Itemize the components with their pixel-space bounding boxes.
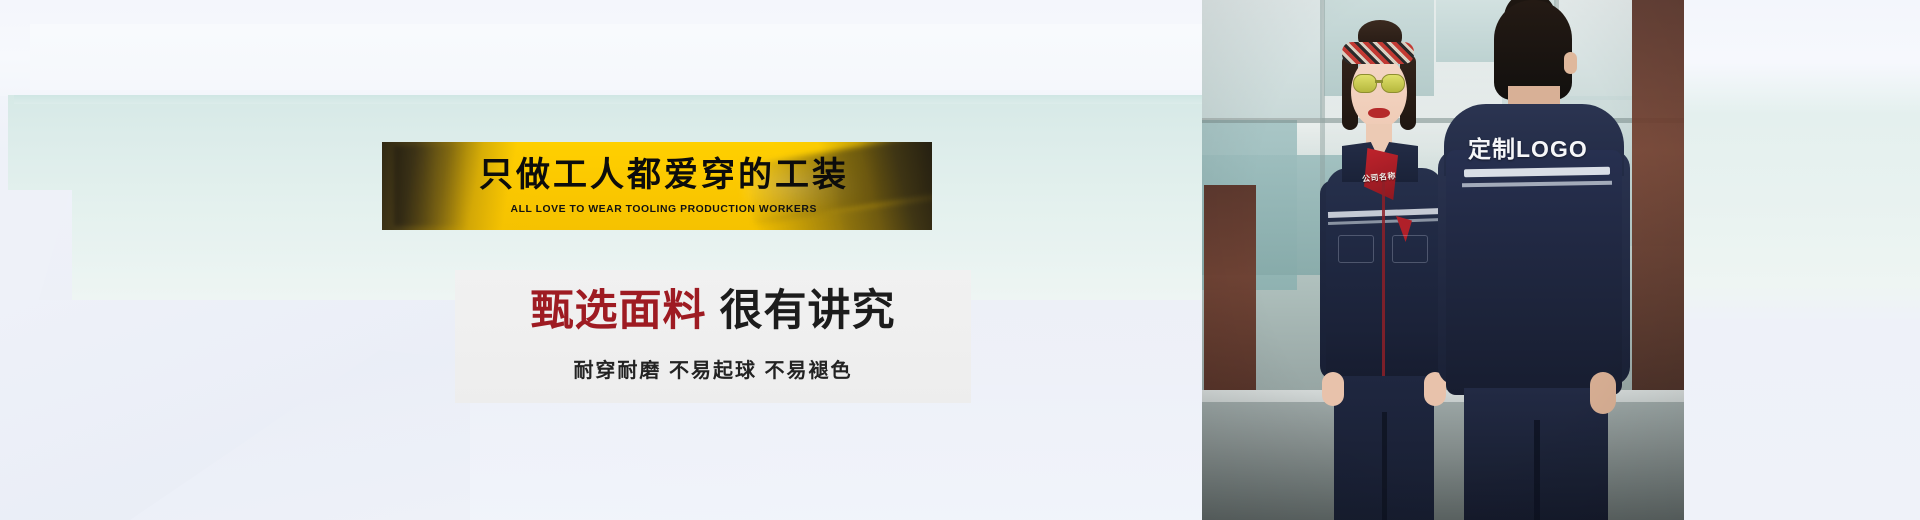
male-jacket-custom-logo-text: 定制LOGO [1468,130,1588,164]
yellow-headline-banner: 只做工人都爱穿的工装 ALL LOVE TO WEAR TOOLING PROD… [382,142,932,230]
banner-subtitle-english: ALL LOVE TO WEAR TOOLING PRODUCTION WORK… [511,203,817,215]
female-model: 公司名称 [1320,20,1450,520]
female-hand-left [1322,372,1344,406]
feature-subtitle: 耐穿耐磨 不易起球 不易褪色 [573,354,852,383]
male-hair [1494,0,1572,100]
female-jacket-pocket-left [1338,235,1374,263]
promo-banner-stage: 只做工人都爱穿的工装 ALL LOVE TO WEAR TOOLING PROD… [0,0,1920,520]
feature-headline-red: 甄选面料 [531,287,707,335]
female-trousers-center-seam [1382,412,1387,520]
feature-headline: 甄选面料很有讲究 [531,290,896,333]
photo-glass-panel-1 [1202,0,1322,118]
banner-title: 只做工人都爱穿的工装 [479,157,849,194]
male-hand-right [1590,372,1616,414]
sunglasses-lens-right [1381,74,1405,93]
photo-doorway-left [1204,185,1256,415]
background-right-fill [1684,0,1920,520]
female-jacket-zipper [1382,180,1385,380]
female-jacket-pocket-right [1392,235,1428,263]
product-photo: 公司名称 定制LOGO [1202,0,1684,520]
banner-text-group: 只做工人都爱穿的工装 ALL LOVE TO WEAR TOOLING PROD… [382,142,932,230]
background-lower-shape-3 [470,385,1230,520]
sunglasses-lens-left [1353,74,1377,93]
male-trousers-center-seam [1534,420,1540,520]
sunglasses-bridge [1375,80,1383,83]
female-sunglasses [1351,74,1407,91]
gray-feature-panel: 甄选面料很有讲究 耐穿耐磨 不易起球 不易褪色 [455,270,971,403]
male-ear [1564,52,1577,74]
male-model: 定制LOGO [1438,0,1628,520]
male-jacket-back [1446,150,1622,395]
photo-doorway-right [1632,0,1684,430]
feature-headline-black: 很有讲究 [720,287,896,335]
female-lips [1368,108,1390,118]
female-plaid-headband [1342,42,1414,64]
female-jacket [1326,168,1444,383]
gray-panel-text-group: 甄选面料很有讲究 耐穿耐磨 不易起球 不易褪色 [455,270,971,403]
